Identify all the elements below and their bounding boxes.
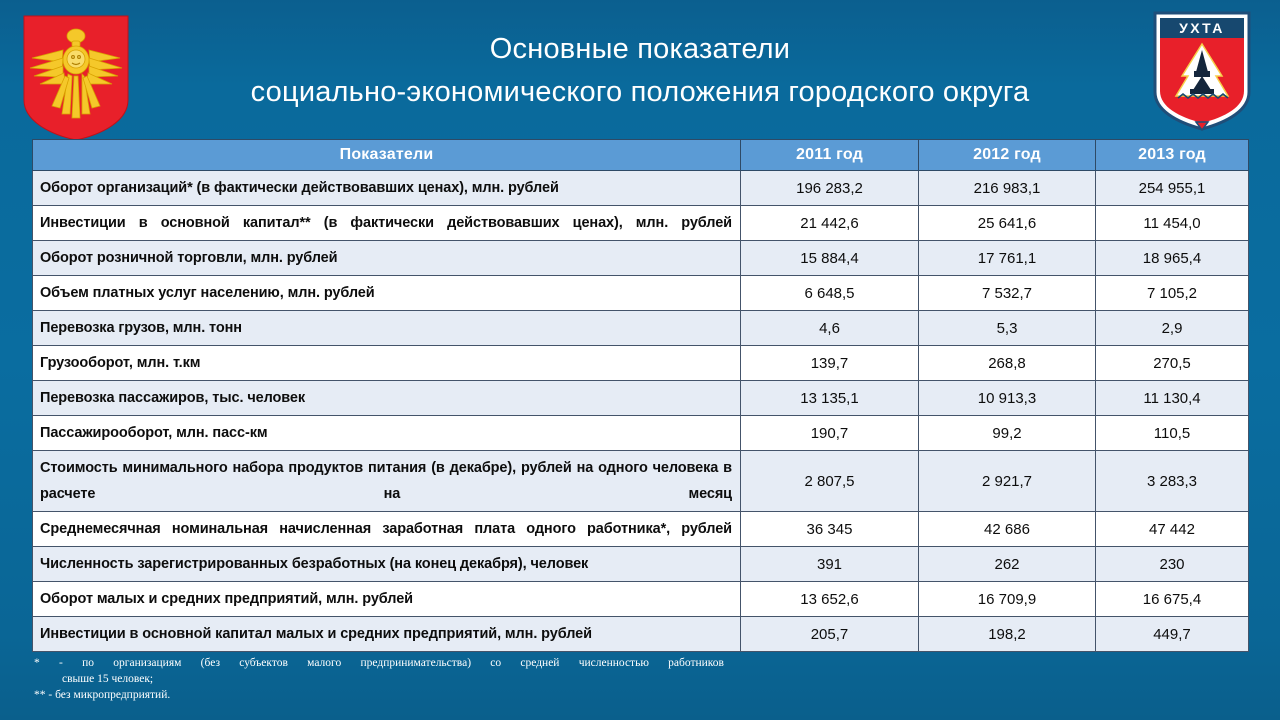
cell-2013: 110,5 [1096,416,1249,451]
cell-2012: 268,8 [919,346,1096,381]
cell-2011: 15 884,4 [741,241,919,276]
table-row: Грузооборот, млн. т.км139,7268,8270,5 [33,346,1249,381]
komi-coat-of-arms-icon [22,14,130,142]
cell-2012: 262 [919,547,1096,582]
table-header-row: Показатели 2011 год 2012 год 2013 год [33,140,1249,171]
cell-2012: 16 709,9 [919,582,1096,617]
cell-2011: 13 652,6 [741,582,919,617]
table-row: Перевозка грузов, млн. тонн4,65,32,9 [33,311,1249,346]
cell-indicator: Объем платных услуг населению, млн. рубл… [33,276,741,311]
cell-indicator: Оборот малых и средних предприятий, млн.… [33,582,741,617]
cell-2011: 190,7 [741,416,919,451]
column-header-indicator: Показатели [33,140,741,171]
cell-indicator: Среднемесячная номинальная начисленная з… [33,512,741,547]
cell-2013: 270,5 [1096,346,1249,381]
cell-2012: 99,2 [919,416,1096,451]
cell-2013: 2,9 [1096,311,1249,346]
cell-2012: 10 913,3 [919,381,1096,416]
cell-2011: 4,6 [741,311,919,346]
indicators-table-container: Показатели 2011 год 2012 год 2013 год Об… [32,139,1248,652]
ukhta-coat-of-arms-icon: УХТА [1152,10,1252,132]
title-line-2: социально-экономического положения город… [150,71,1130,114]
footnotes: * - по организациям (без субъектов малог… [34,655,854,703]
cell-2011: 21 442,6 [741,206,919,241]
table-row: Стоимость минимального набора продуктов … [33,451,1249,512]
cell-indicator: Численность зарегистрированных безработн… [33,547,741,582]
table-row: Оборот организаций* (в фактически действ… [33,171,1249,206]
cell-2013: 11 454,0 [1096,206,1249,241]
cell-2013: 18 965,4 [1096,241,1249,276]
cell-2012: 5,3 [919,311,1096,346]
cell-indicator: Перевозка грузов, млн. тонн [33,311,741,346]
cell-2011: 36 345 [741,512,919,547]
cell-2011: 196 283,2 [741,171,919,206]
cell-2012: 216 983,1 [919,171,1096,206]
cell-2012: 17 761,1 [919,241,1096,276]
table-row: Пассажирооборот, млн. пасс-км190,799,211… [33,416,1249,451]
ukhta-banner-text: УХТА [1179,20,1225,36]
table-row: Среднемесячная номинальная начисленная з… [33,512,1249,547]
cell-2013: 449,7 [1096,617,1249,652]
cell-2013: 3 283,3 [1096,451,1249,512]
page-title: Основные показатели социально-экономичес… [150,28,1130,114]
cell-2011: 139,7 [741,346,919,381]
cell-2013: 230 [1096,547,1249,582]
cell-2012: 2 921,7 [919,451,1096,512]
cell-2011: 13 135,1 [741,381,919,416]
column-header-2013: 2013 год [1096,140,1249,171]
cell-indicator: Инвестиции в основной капитал малых и ср… [33,617,741,652]
cell-indicator: Грузооборот, млн. т.км [33,346,741,381]
cell-2013: 16 675,4 [1096,582,1249,617]
indicators-table: Показатели 2011 год 2012 год 2013 год Об… [32,139,1249,652]
title-line-1: Основные показатели [150,28,1130,71]
cell-indicator: Стоимость минимального набора продуктов … [33,451,741,512]
cell-2011: 391 [741,547,919,582]
table-row: Оборот розничной торговли, млн. рублей15… [33,241,1249,276]
cell-indicator: Инвестиции в основной капитал** (в факти… [33,206,741,241]
cell-indicator: Перевозка пассажиров, тыс. человек [33,381,741,416]
cell-indicator: Оборот розничной торговли, млн. рублей [33,241,741,276]
cell-2011: 2 807,5 [741,451,919,512]
table-row: Численность зарегистрированных безработн… [33,547,1249,582]
cell-2013: 47 442 [1096,512,1249,547]
cell-2012: 7 532,7 [919,276,1096,311]
cell-2011: 205,7 [741,617,919,652]
table-row: Инвестиции в основной капитал малых и ср… [33,617,1249,652]
cell-indicator: Оборот организаций* (в фактически действ… [33,171,741,206]
table-row: Объем платных услуг населению, млн. рубл… [33,276,1249,311]
footnote-line-2: свыше 15 человек; [34,671,854,687]
table-row: Оборот малых и средних предприятий, млн.… [33,582,1249,617]
table-row: Инвестиции в основной капитал** (в факти… [33,206,1249,241]
column-header-2012: 2012 год [919,140,1096,171]
cell-2012: 198,2 [919,617,1096,652]
cell-2012: 25 641,6 [919,206,1096,241]
footnote-line-1: * - по организациям (без субъектов малог… [34,655,724,671]
cell-2013: 254 955,1 [1096,171,1249,206]
column-header-2011: 2011 год [741,140,919,171]
cell-indicator: Пассажирооборот, млн. пасс-км [33,416,741,451]
slide-header: Основные показатели социально-экономичес… [0,0,1280,140]
cell-2011: 6 648,5 [741,276,919,311]
cell-2013: 11 130,4 [1096,381,1249,416]
cell-2013: 7 105,2 [1096,276,1249,311]
cell-2012: 42 686 [919,512,1096,547]
table-row: Перевозка пассажиров, тыс. человек13 135… [33,381,1249,416]
footnote-line-3: ** - без микропредприятий. [34,687,854,703]
